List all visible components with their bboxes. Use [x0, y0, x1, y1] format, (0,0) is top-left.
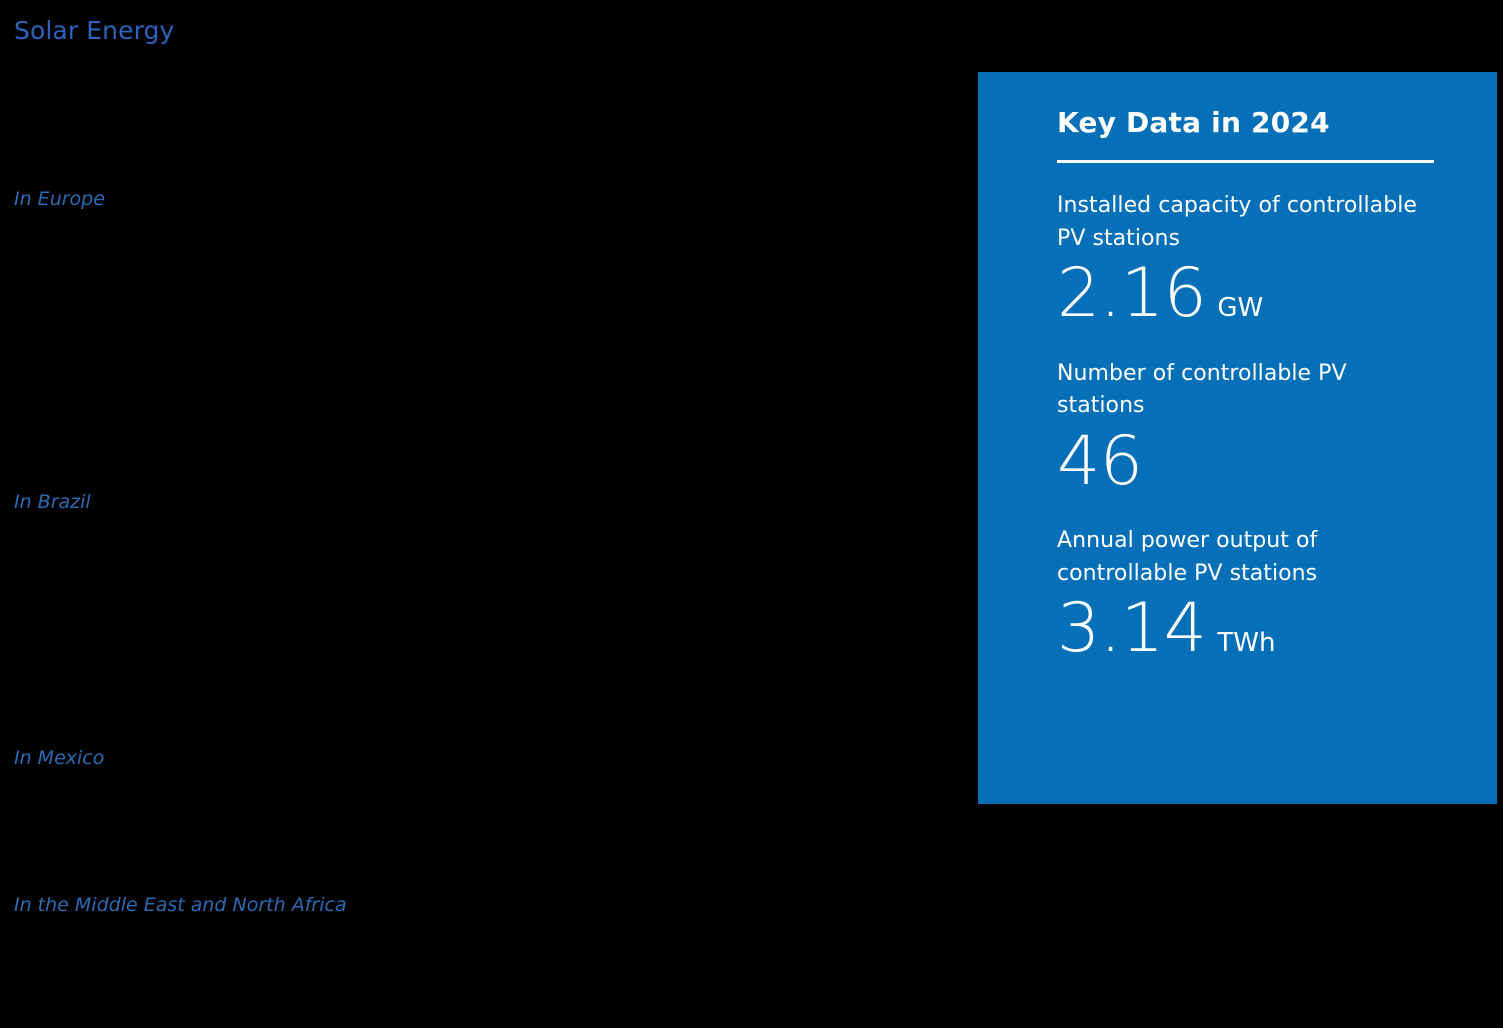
stat-label: Annual power output of controllable PV s…	[1057, 525, 1434, 590]
stat-block-annual-power-output: Annual power output of controllable PV s…	[1057, 525, 1434, 666]
key-data-panel-title: Key Data in 2024	[1057, 96, 1434, 140]
stat-value-row: 2.16 GW	[1057, 257, 1434, 330]
stat-block-installed-capacity: Installed capacity of controllable PV st…	[1057, 190, 1434, 331]
region-label-europe: In Europe	[14, 188, 105, 211]
stat-unit: TWh	[1217, 630, 1275, 656]
region-label-mexico: In Mexico	[14, 747, 104, 770]
stat-label: Installed capacity of controllable PV st…	[1057, 190, 1434, 255]
stat-block-number-of-stations: Number of controllable PV stations 46	[1057, 358, 1434, 499]
key-data-panel-divider	[1057, 160, 1434, 163]
stat-label: Number of controllable PV stations	[1057, 358, 1434, 423]
stat-value-row: 3.14 TWh	[1057, 592, 1434, 665]
stat-value: 46	[1057, 425, 1143, 498]
stat-value-row: 46	[1057, 425, 1434, 498]
key-data-panel: Key Data in 2024 Installed capacity of c…	[978, 72, 1497, 804]
stat-unit: GW	[1217, 295, 1263, 321]
region-label-middle-east-north-africa: In the Middle East and North Africa	[14, 894, 347, 917]
region-label-brazil: In Brazil	[14, 491, 91, 514]
stat-value: 2.16	[1057, 257, 1206, 330]
stat-value: 3.14	[1057, 592, 1206, 665]
page-title: Solar Energy	[14, 16, 174, 46]
